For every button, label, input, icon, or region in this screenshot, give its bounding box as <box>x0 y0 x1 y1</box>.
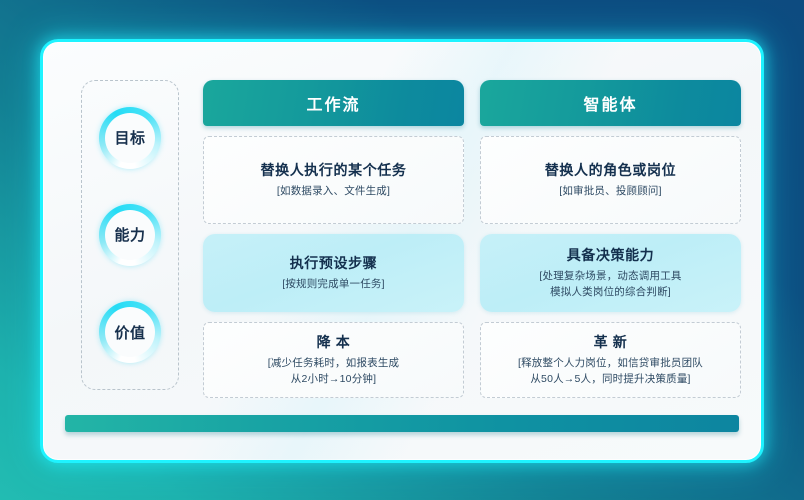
dimension-rail: 目标 能力 价值 <box>81 80 179 390</box>
cell-subtitle: [如数据录入、文件生成] <box>277 184 390 200</box>
cell-title: 替换人执行的某个任务 <box>261 161 407 179</box>
cell-subtitle: [按规则完成单一任务] <box>282 277 385 293</box>
column-agent: 智能体 替换人的角色或岗位 [如审批员、投顾顾问] 具备决策能力 [处理复杂场景… <box>480 80 741 398</box>
base-platform-bar <box>65 415 739 432</box>
dimension-badge-value: 价值 <box>99 301 161 363</box>
dimension-badge-capability-label: 能力 <box>114 224 145 245</box>
cell-title: 执行预设步骤 <box>290 254 378 272</box>
cell-subtitle: [处理复杂场景，动态调用工具 模拟人类岗位的综合判断] <box>539 269 681 301</box>
cell-subtitle: [减少任务耗时，如报表生成 从2小时→10分钟] <box>268 356 400 388</box>
column-workflow: 工作流 替换人执行的某个任务 [如数据录入、文件生成] 执行预设步骤 [按规则完… <box>203 80 464 398</box>
cell-workflow-goal: 替换人执行的某个任务 [如数据录入、文件生成] <box>203 136 464 224</box>
column-workflow-header: 工作流 <box>203 80 464 126</box>
cell-title: 革 新 <box>594 333 628 351</box>
cell-workflow-value: 降 本 [减少任务耗时，如报表生成 从2小时→10分钟] <box>203 322 464 398</box>
cell-subtitle: [释放整个人力岗位，如信贷审批员团队 从50人→5人，同时提升决策质量] <box>518 356 703 388</box>
cell-title: 降 本 <box>317 333 351 351</box>
cell-subtitle: [如审批员、投顾顾问] <box>559 184 662 200</box>
cell-title: 具备决策能力 <box>567 246 655 264</box>
dimension-badge-goal-label: 目标 <box>114 127 145 148</box>
dimension-badge-capability: 能力 <box>99 204 161 266</box>
cell-agent-capability: 具备决策能力 [处理复杂场景，动态调用工具 模拟人类岗位的综合判断] <box>480 234 741 312</box>
cell-workflow-capability: 执行预设步骤 [按规则完成单一任务] <box>203 234 464 312</box>
cell-agent-goal: 替换人的角色或岗位 [如审批员、投顾顾问] <box>480 136 741 224</box>
cell-title: 替换人的角色或岗位 <box>545 161 676 179</box>
dimension-badge-value-label: 价值 <box>114 322 145 343</box>
cell-agent-value: 革 新 [释放整个人力岗位，如信贷审批员团队 从50人→5人，同时提升决策质量] <box>480 322 741 398</box>
dimension-badge-goal: 目标 <box>99 107 161 169</box>
comparison-grid: 工作流 替换人执行的某个任务 [如数据录入、文件生成] 执行预设步骤 [按规则完… <box>203 80 741 398</box>
column-agent-header: 智能体 <box>480 80 741 126</box>
comparison-card-frame: 目标 能力 价值 工作流 替换人执行的某个任务 [如数据录入、文件生成] 执行预… <box>40 39 764 463</box>
